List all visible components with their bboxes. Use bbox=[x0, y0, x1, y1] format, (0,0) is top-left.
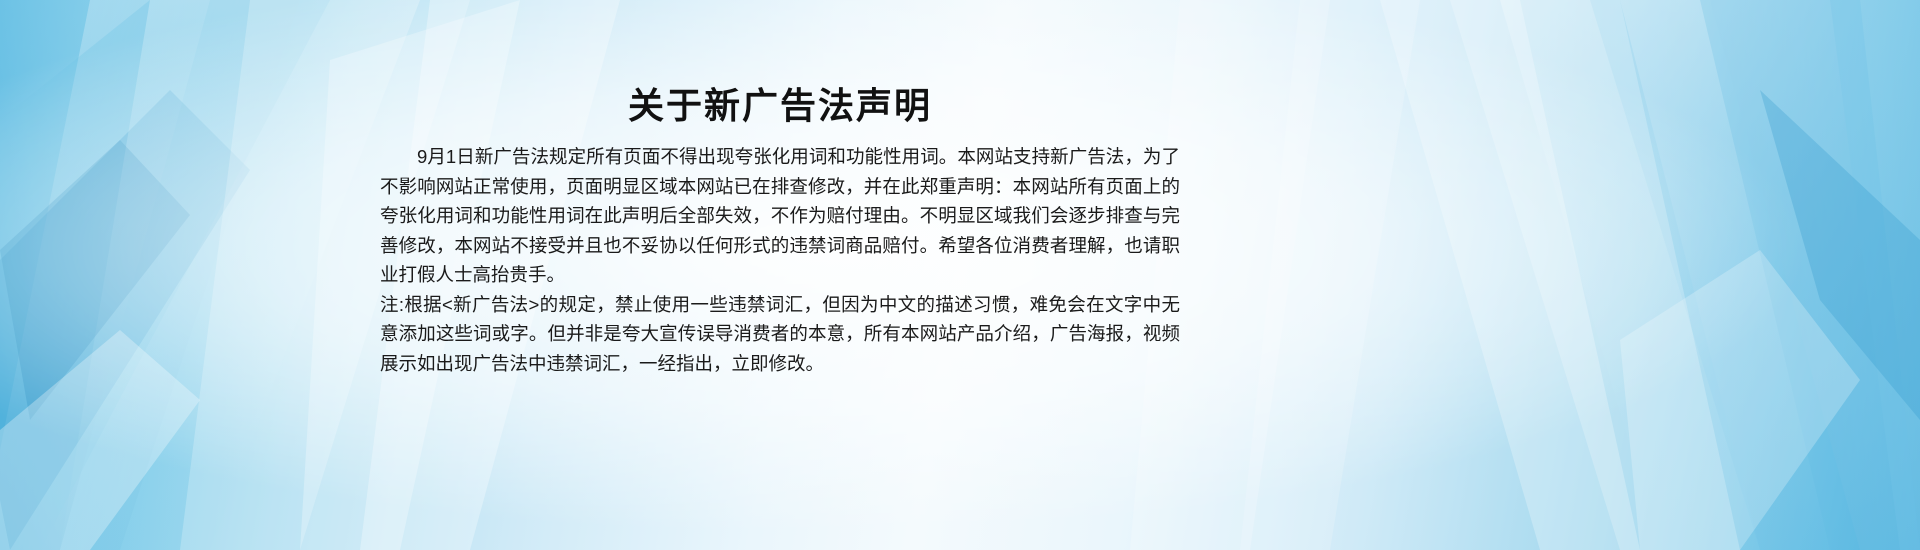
page-title: 关于新广告法声明 bbox=[0, 82, 1740, 130]
banner-content: 关于新广告法声明 9月1日新广告法规定所有页面不得出现夸张化用词和功能性用词。本… bbox=[0, 0, 1920, 550]
statement-paragraph-2: 注:根据<新广告法>的规定，禁止使用一些违禁词汇，但因为中文的描述习惯，难免会在… bbox=[380, 290, 1180, 379]
statement-paragraph-1: 9月1日新广告法规定所有页面不得出现夸张化用词和功能性用词。本网站支持新广告法，… bbox=[380, 142, 1180, 290]
advertising-law-statement-banner: 关于新广告法声明 9月1日新广告法规定所有页面不得出现夸张化用词和功能性用词。本… bbox=[0, 0, 1920, 550]
statement-body: 9月1日新广告法规定所有页面不得出现夸张化用词和功能性用词。本网站支持新广告法，… bbox=[380, 142, 1180, 378]
